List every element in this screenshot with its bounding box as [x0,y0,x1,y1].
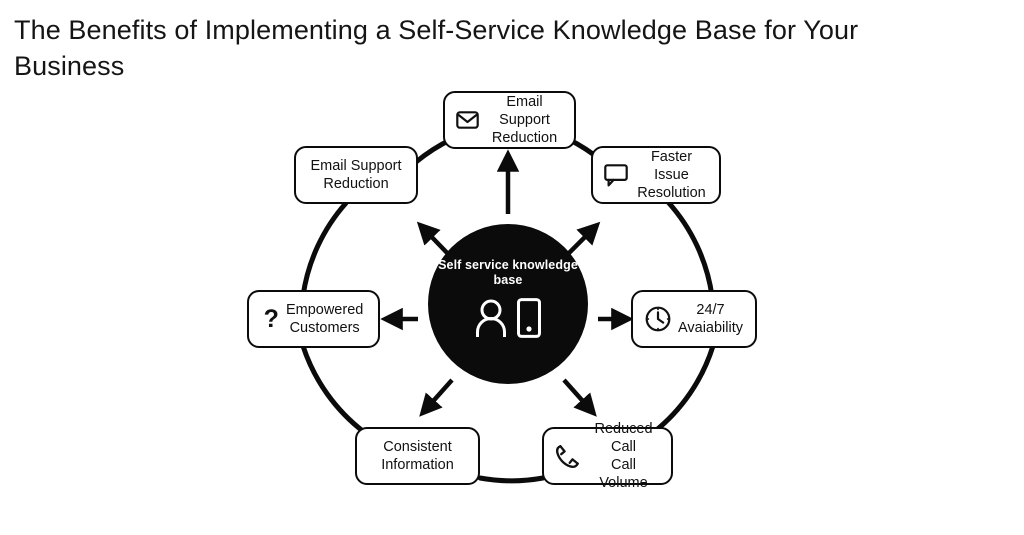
arrow-down-left [427,380,452,408]
node-label: Email Support Reduction [486,93,563,147]
node-label: Consistent Information [381,438,454,474]
phone-handset-icon [555,444,580,469]
clock-icon [645,306,671,332]
node-24-7-availability[interactable]: 24/7 Avaiability [631,290,757,348]
node-email-support-reduction-top[interactable]: Email Support Reduction [443,91,576,149]
speech-bubble-icon [604,164,628,187]
question-mark-icon: ? [264,307,279,331]
node-label: Faster Issue Resolution [635,148,708,202]
node-consistent-information[interactable]: Consistent Information [355,427,480,485]
center-hub: Self service knowledge base [428,224,588,384]
arrow-down-right [564,380,589,408]
center-hub-icons [474,298,542,343]
envelope-icon [456,111,479,129]
node-faster-issue-resolution[interactable]: Faster Issue Resolution [591,146,721,204]
node-email-support-reduction-left[interactable]: Email Support Reduction [294,146,418,204]
page-title: The Benefits of Implementing a Self-Serv… [14,12,964,84]
node-reduced-call-volume[interactable]: Reduced Call Call Volume [542,427,673,485]
cycle-diagram: Self service knowledge base [0,78,1024,535]
mobile-phone-icon [516,298,542,343]
node-label: Reduced Call Call Volume [587,420,660,492]
center-hub-label: Self service knowledge base [428,258,588,288]
node-empowered-customers[interactable]: ? Empowered Customers [247,290,380,348]
node-label: 24/7 Avaiability [678,301,743,337]
node-label: Email Support Reduction [310,157,401,193]
node-label: Empowered Customers [286,301,363,337]
person-icon [474,298,508,343]
